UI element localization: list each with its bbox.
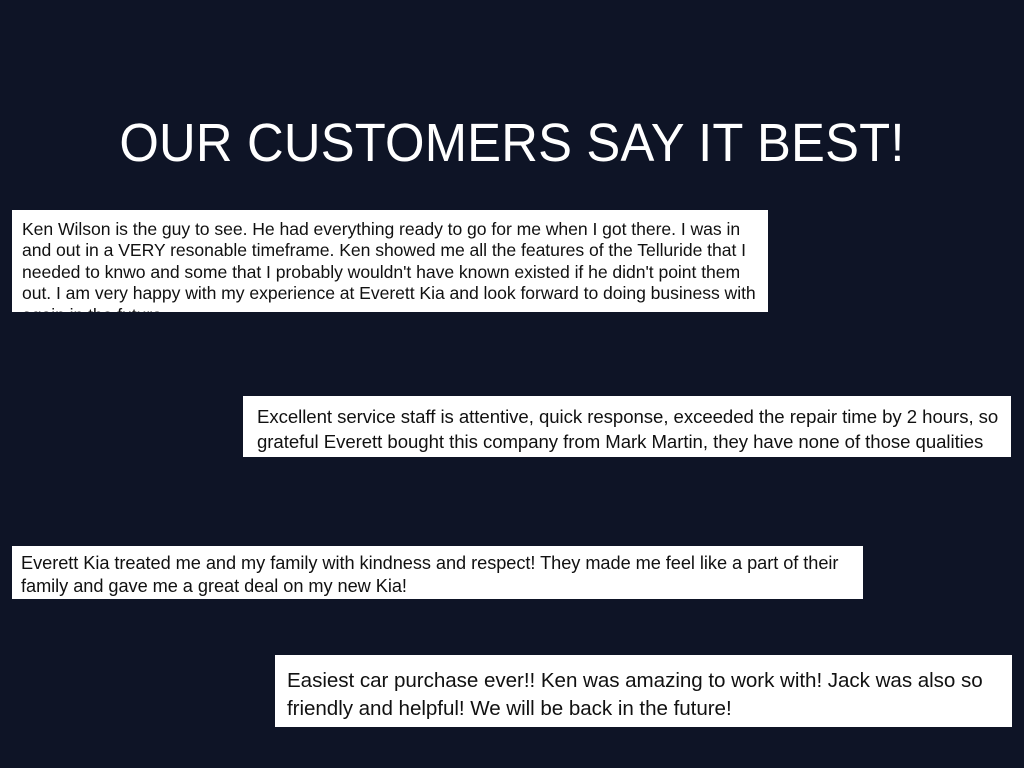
testimonial-card-4: Easiest car purchase ever!! Ken was amaz… (275, 655, 1012, 727)
testimonial-card-2: Excellent service staff is attentive, qu… (243, 396, 1011, 457)
testimonial-text-3: Everett Kia treated me and my family wit… (21, 552, 855, 599)
presentation-slide: OUR CUSTOMERS SAY IT BEST! Ken Wilson is… (0, 0, 1024, 768)
testimonial-text-2: Excellent service staff is attentive, qu… (257, 405, 999, 454)
testimonial-card-3: Everett Kia treated me and my family wit… (12, 546, 863, 599)
testimonial-text-1: Ken Wilson is the guy to see. He had eve… (22, 219, 758, 312)
testimonial-card-1: Ken Wilson is the guy to see. He had eve… (12, 210, 768, 312)
page-title: OUR CUSTOMERS SAY IT BEST! (31, 112, 994, 174)
testimonial-text-4: Easiest car purchase ever!! Ken was amaz… (287, 667, 1002, 722)
